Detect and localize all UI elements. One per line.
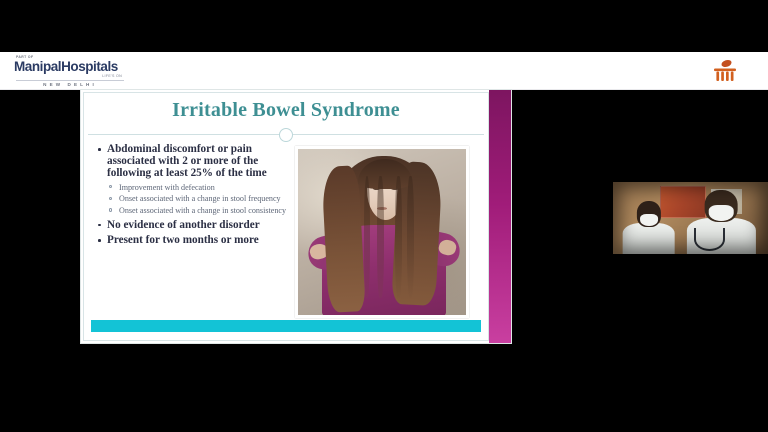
photo-hair-strand bbox=[395, 176, 402, 299]
bullet-item-sub: Onset associated with a change in stool … bbox=[96, 194, 292, 203]
logo-tagline: LIFE'S ON bbox=[14, 74, 122, 79]
slide-photo-frame bbox=[295, 146, 469, 318]
logo-divider-rule bbox=[16, 80, 124, 81]
bullet-sublist: Improvement with defecation Onset associ… bbox=[96, 183, 292, 215]
bullet-item-primary: Present for two months or more bbox=[96, 234, 292, 246]
title-circle-ornament-icon bbox=[279, 128, 293, 142]
video-scene bbox=[613, 182, 768, 254]
slide-bottom-accent-bar bbox=[91, 320, 481, 332]
video-participant-face-mask bbox=[709, 205, 734, 221]
bullet-item-primary: Abdominal discomfort or pain associated … bbox=[96, 143, 292, 180]
bullet-item-sub: Onset associated with a change in stool … bbox=[96, 206, 292, 215]
slide-bullet-list: Abdominal discomfort or pain associated … bbox=[96, 143, 292, 249]
presentation-slide[interactable]: Irritable Bowel Syndrome Abdominal disco… bbox=[80, 89, 512, 344]
hospital-emblem-icon bbox=[710, 57, 740, 85]
slide-title: Irritable Bowel Syndrome bbox=[84, 99, 488, 122]
photo-hair-strand bbox=[377, 176, 384, 299]
logo-word-manipal: Manipal bbox=[14, 59, 61, 74]
slide-content-area: Irritable Bowel Syndrome Abdominal disco… bbox=[83, 92, 489, 341]
logo-wordmark: ManipalHospitals bbox=[14, 60, 126, 74]
logo-city-text: NEW DELHI bbox=[14, 82, 126, 88]
video-participant-coat bbox=[622, 223, 675, 254]
bullet-item-primary: No evidence of another disorder bbox=[96, 219, 292, 231]
photo-hair-strand bbox=[407, 176, 414, 299]
video-participant bbox=[622, 199, 675, 254]
bullet-item-sub: Improvement with defecation bbox=[96, 183, 292, 192]
logo-word-hospitals: Hospitals bbox=[61, 59, 118, 74]
photo-hair-strand bbox=[364, 176, 371, 299]
slide-side-accent-bar bbox=[489, 90, 511, 343]
brand-header-bar: PART OF ManipalHospitals LIFE'S ON NEW D… bbox=[0, 52, 768, 90]
screen-stage: PART OF ManipalHospitals LIFE'S ON NEW D… bbox=[0, 0, 768, 432]
video-participant-face-mask bbox=[640, 214, 658, 226]
presenter-video-thumbnail[interactable] bbox=[613, 182, 768, 254]
manipal-hospitals-logo: PART OF ManipalHospitals LIFE'S ON NEW D… bbox=[14, 55, 126, 87]
slide-photo-image bbox=[298, 149, 466, 315]
